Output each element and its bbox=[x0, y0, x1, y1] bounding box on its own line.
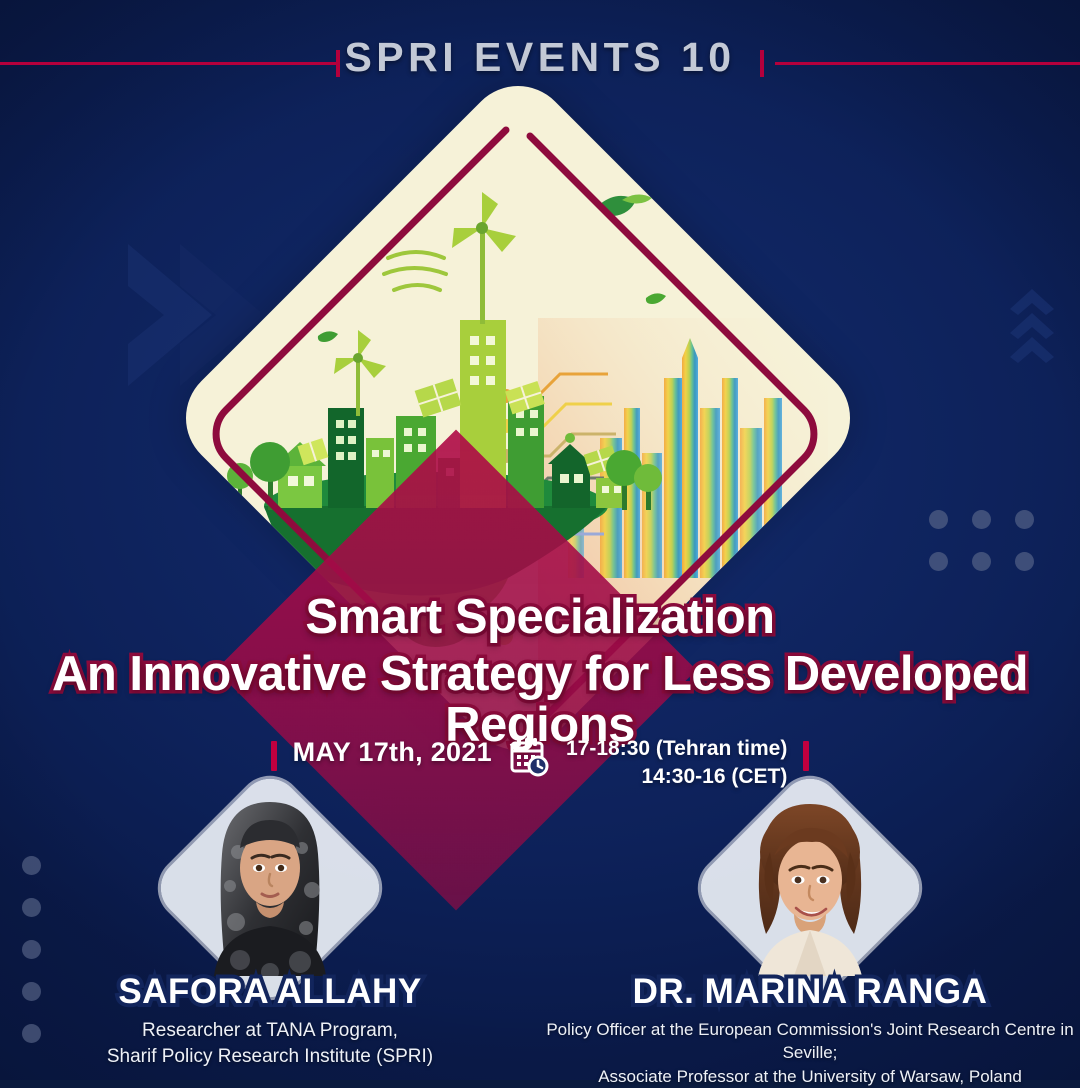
speaker-card: SAFORA ALLAHY Researcher at TANA Program… bbox=[0, 788, 540, 1088]
header-tick-right-icon bbox=[760, 50, 764, 77]
speaker-bio-line-2: Associate Professor at the University of… bbox=[540, 1065, 1080, 1088]
dot-grid-right bbox=[929, 510, 1058, 594]
avatar bbox=[170, 788, 370, 988]
decorative-dot bbox=[972, 510, 991, 529]
schedule-bar-right bbox=[803, 741, 809, 771]
speaker-name: DR. MARINA RANGA bbox=[633, 972, 988, 1012]
triple-chevron-up-icon bbox=[1002, 285, 1062, 365]
speaker-portrait-safora-allahy bbox=[200, 794, 340, 976]
speaker-card: DR. MARINA RANGA Policy Officer at the E… bbox=[540, 788, 1080, 1088]
event-time-secondary: 14:30-16 (CET) bbox=[566, 763, 787, 791]
decorative-dot bbox=[929, 552, 948, 571]
decorative-dot bbox=[1015, 552, 1034, 571]
decorative-dot bbox=[972, 552, 991, 571]
event-title-line-1: Smart Specialization bbox=[0, 592, 1080, 643]
speaker-list: SAFORA ALLAHY Researcher at TANA Program… bbox=[0, 788, 1080, 1088]
header-rule-right bbox=[775, 62, 1080, 65]
header-title: SPRI EVENTS 10 bbox=[0, 34, 1080, 81]
event-time: 17-18:30 (Tehran time) 14:30-16 (CET) bbox=[566, 735, 787, 790]
speaker-bio: Researcher at TANA Program, Sharif Polic… bbox=[107, 1018, 433, 1070]
speaker-bio-line-1: Researcher at TANA Program, bbox=[107, 1018, 433, 1044]
speaker-bio: Policy Officer at the European Commissio… bbox=[540, 1018, 1080, 1088]
event-time-primary: 17-18:30 (Tehran time) bbox=[566, 735, 787, 763]
speaker-bio-line-1: Policy Officer at the European Commissio… bbox=[540, 1018, 1080, 1065]
speaker-bio-line-2: Sharif Policy Research Institute (SPRI) bbox=[107, 1044, 433, 1070]
avatar bbox=[710, 788, 910, 988]
calendar-clock-icon bbox=[508, 736, 550, 778]
decorative-dot bbox=[929, 510, 948, 529]
event-date: MAY 17th, 2021 bbox=[293, 737, 492, 768]
event-title: Smart Specialization An Innovative Strat… bbox=[0, 592, 1080, 751]
wind-lines bbox=[384, 252, 446, 290]
event-schedule: MAY 17th, 2021 17-18:30 (Tehran time) 14… bbox=[0, 735, 1080, 790]
speaker-portrait-marina-ranga bbox=[740, 794, 880, 976]
schedule-bar-left bbox=[271, 741, 277, 771]
speaker-name: SAFORA ALLAHY bbox=[118, 972, 421, 1012]
decorative-dot bbox=[1015, 510, 1034, 529]
